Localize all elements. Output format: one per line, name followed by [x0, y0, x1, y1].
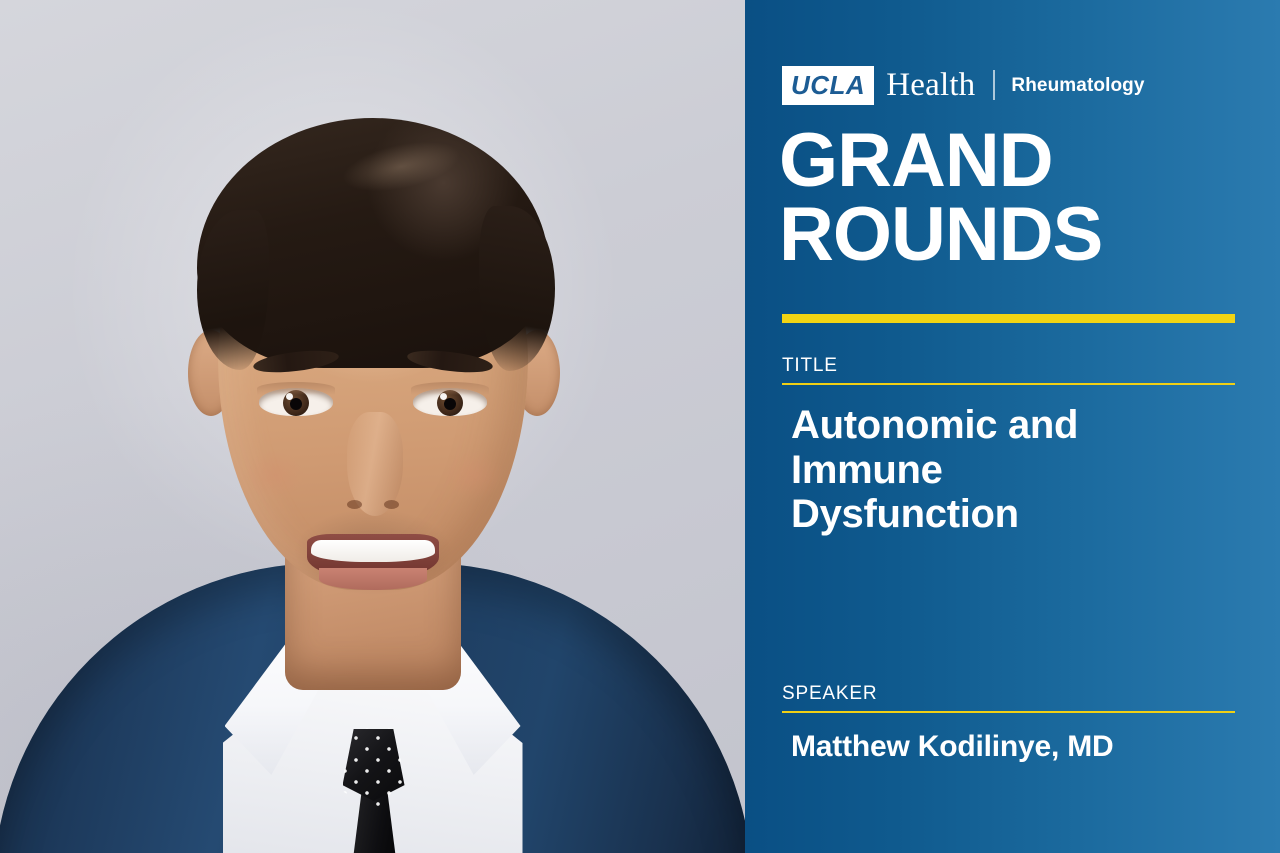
pupil-left [290, 398, 302, 410]
lecture-title-line-2: Immune [791, 448, 1235, 493]
accent-bar [782, 314, 1235, 323]
logo-divider [993, 70, 995, 100]
info-panel: UCLA Health Rheumatology GRAND ROUNDS TI… [745, 0, 1280, 853]
ucla-health-logo: UCLA Health Rheumatology [782, 66, 1145, 104]
portrait-illustration [0, 0, 745, 853]
lecture-title-line-1: Autonomic and [791, 403, 1235, 448]
headline-line-2: ROUNDS [779, 198, 1249, 272]
grand-rounds-slide: UCLA Health Rheumatology GRAND ROUNDS TI… [0, 0, 1280, 853]
cheek-right [431, 440, 517, 510]
speaker-kicker: SPEAKER [782, 683, 1235, 711]
pupil-right [444, 398, 456, 410]
teeth [311, 540, 435, 562]
lower-lip [319, 568, 427, 590]
ucla-wordmark: UCLA [782, 66, 874, 105]
speaker-section: SPEAKER Matthew Kodilinye, MD [782, 683, 1235, 765]
department-name: Rheumatology [1011, 76, 1144, 95]
health-wordmark: Health [886, 69, 975, 102]
speaker-kicker-rule [782, 711, 1235, 713]
eyelid-right [411, 382, 489, 395]
cheek-left [231, 440, 317, 510]
lecture-title-line-3: Dysfunction [791, 492, 1235, 537]
lecture-title: Autonomic and Immune Dysfunction [791, 403, 1235, 537]
title-section: TITLE Autonomic and Immune Dysfunction [782, 355, 1235, 537]
speaker-name: Matthew Kodilinye, MD [791, 729, 1235, 765]
title-kicker: TITLE [782, 355, 1235, 383]
speaker-photo [0, 0, 745, 853]
nostril-left [347, 500, 362, 509]
title-kicker-rule [782, 383, 1235, 385]
nostril-right [384, 500, 399, 509]
headline-line-1: GRAND [779, 124, 1249, 198]
eyelid-left [257, 382, 335, 395]
page-title: GRAND ROUNDS [779, 124, 1249, 273]
